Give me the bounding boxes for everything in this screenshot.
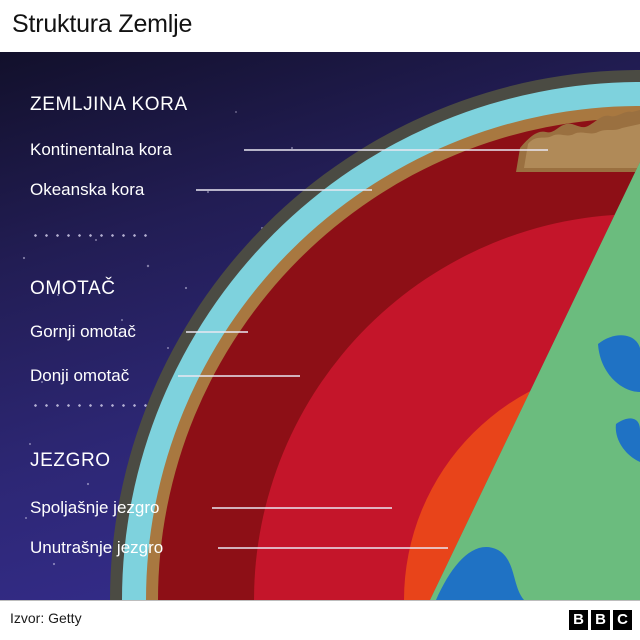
section-heading-crust: ZEMLJINA KORA bbox=[30, 94, 188, 116]
footer-divider bbox=[0, 600, 640, 601]
bbc-logo: B B C bbox=[569, 610, 632, 630]
label-overlay: ZEMLJINA KORA Kontinentalna kora Okeansk… bbox=[0, 52, 640, 600]
section-heading-mantle: OMOTAČ bbox=[30, 278, 116, 300]
illustration-stage: ZEMLJINA KORA Kontinentalna kora Okeansk… bbox=[0, 52, 640, 600]
label-inner-core: Unutrašnje jezgro bbox=[30, 538, 163, 558]
header-bar: Struktura Zemlje bbox=[0, 0, 640, 52]
label-continental-crust: Kontinentalna kora bbox=[30, 140, 172, 160]
bbc-logo-letter-b2: B bbox=[591, 610, 610, 630]
source-credit: Izvor: Getty bbox=[10, 609, 82, 627]
label-outer-core: Spoljašnje jezgro bbox=[30, 498, 159, 518]
divider-crust-mantle bbox=[30, 234, 154, 237]
bbc-logo-letter-c: C bbox=[613, 610, 632, 630]
label-oceanic-crust: Okeanska kora bbox=[30, 180, 144, 200]
footer-bar: Izvor: Getty B B C bbox=[0, 600, 640, 640]
divider-mantle-core bbox=[30, 404, 154, 407]
label-upper-mantle: Gornji omotač bbox=[30, 322, 136, 342]
earth-structure-infographic: Struktura Zemlje bbox=[0, 0, 640, 640]
label-lower-mantle: Donji omotač bbox=[30, 366, 129, 386]
section-heading-core: JEZGRO bbox=[30, 450, 111, 472]
bbc-logo-letter-b1: B bbox=[569, 610, 588, 630]
page-title: Struktura Zemlje bbox=[12, 8, 192, 40]
